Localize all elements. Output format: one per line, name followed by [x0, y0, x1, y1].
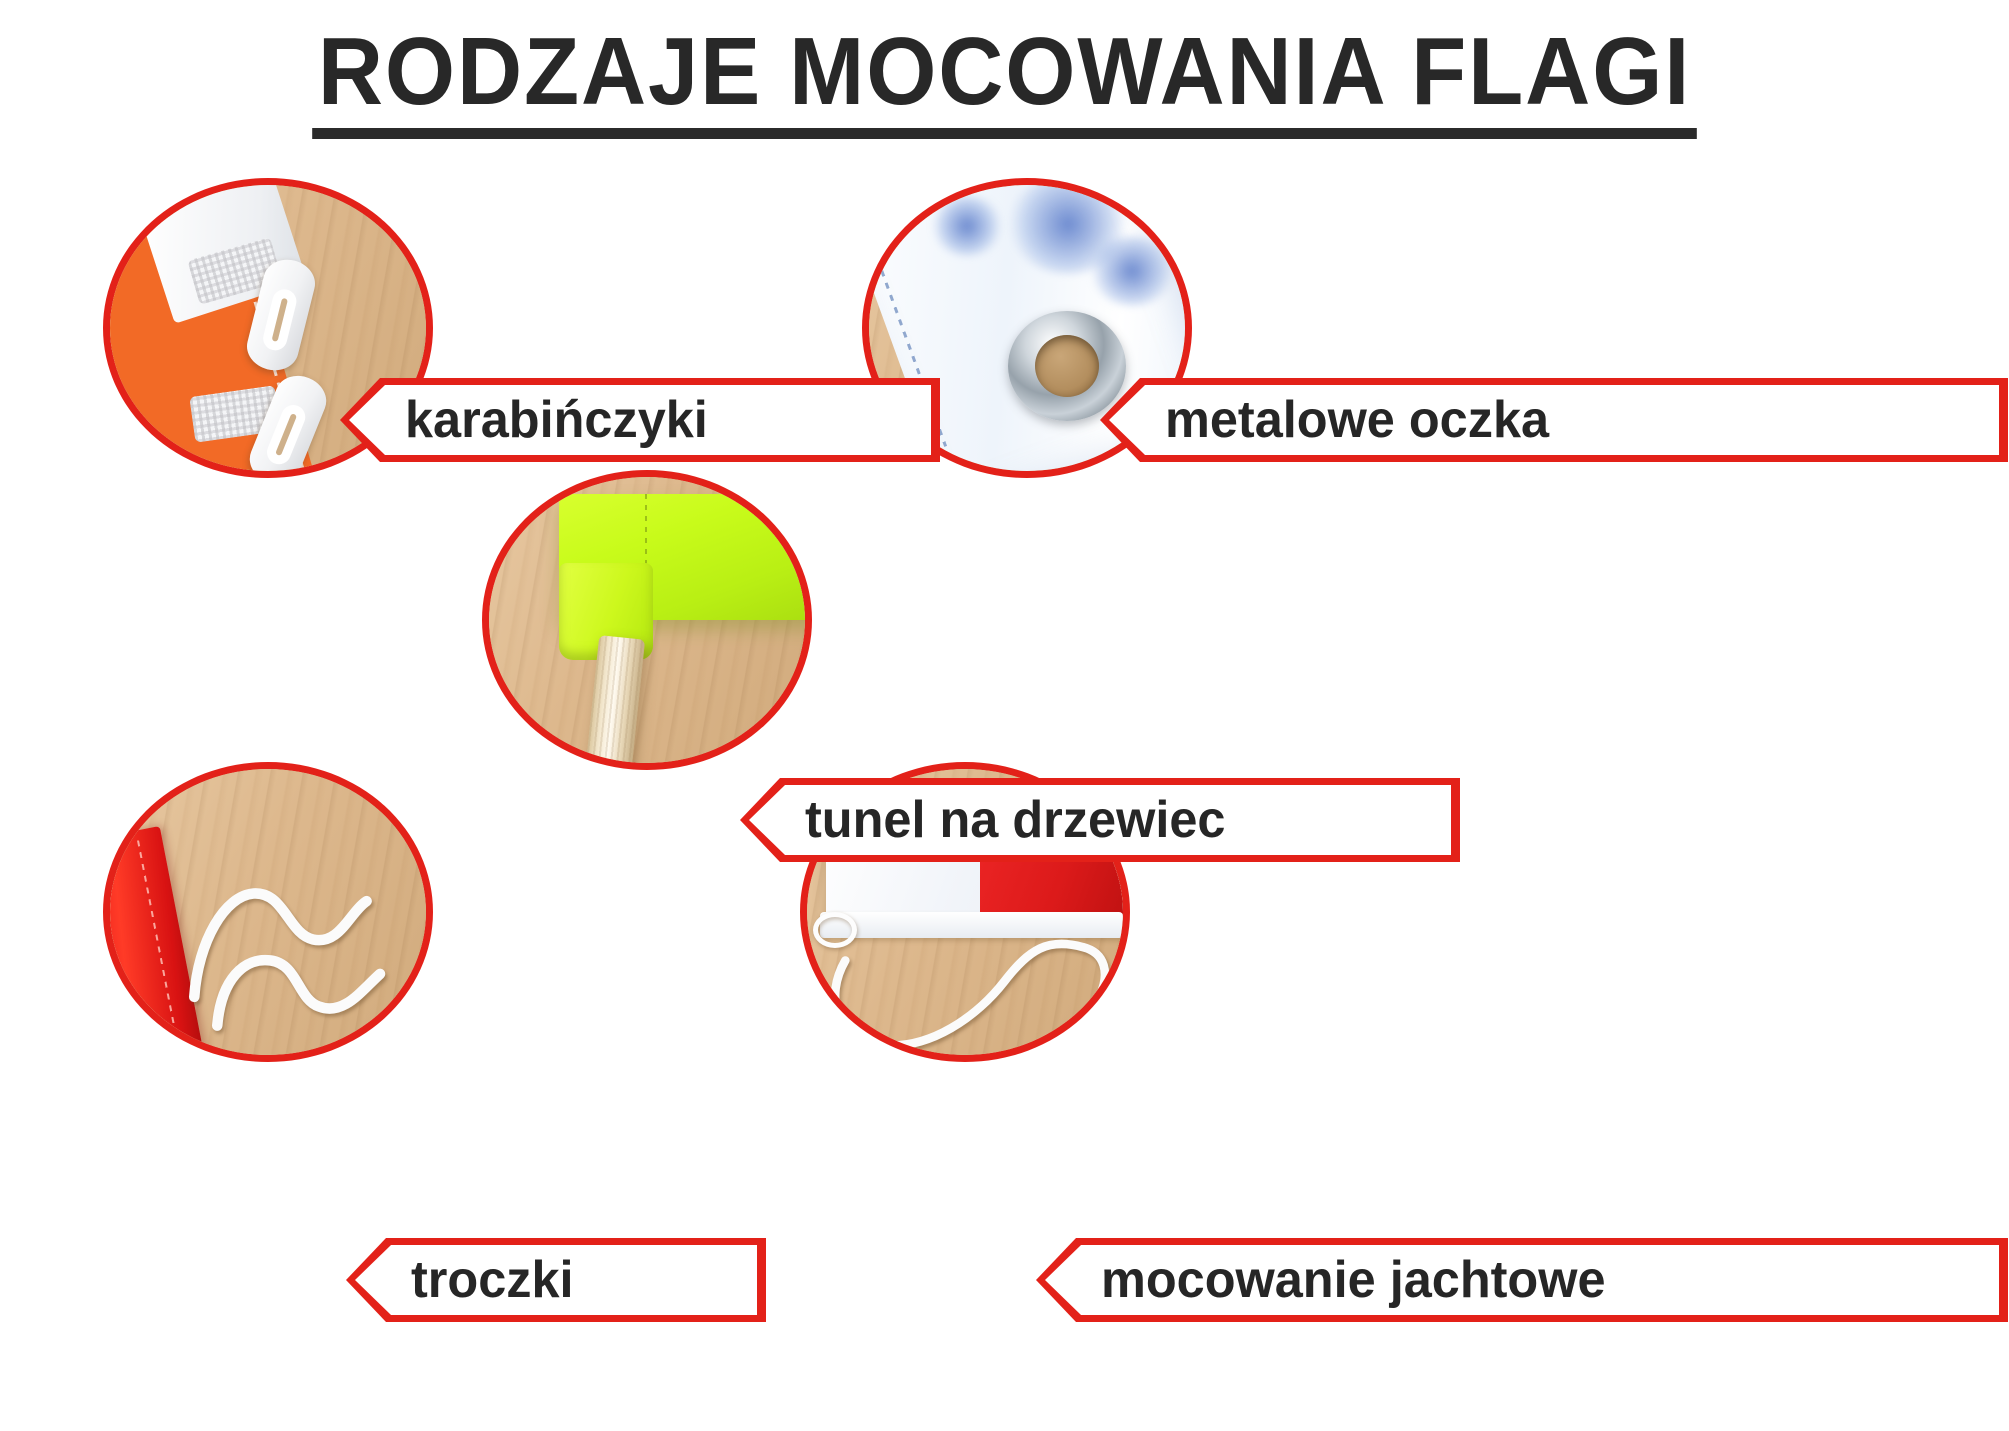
- callout-karabinczyki-body: karabińczyki: [349, 385, 931, 455]
- page-title: RODZAJE MOCOWANIA FLAGI: [0, 22, 2009, 139]
- infographic-poster: RODZAJE MOCOWANIA FLAGI karabińczyki: [0, 0, 2009, 1431]
- callout-metalowe-oczka-label: metalowe oczka: [1165, 394, 1549, 446]
- photo-tunel-na-drzewiec: [482, 470, 812, 770]
- callout-tunel-na-drzewiec-label: tunel na drzewiec: [805, 794, 1225, 846]
- callout-mocowanie-jachtowe-label: mocowanie jachtowe: [1101, 1254, 1606, 1306]
- callout-mocowanie-jachtowe-body: mocowanie jachtowe: [1045, 1245, 1999, 1315]
- halyard-rope-path: [835, 944, 1105, 1046]
- photo-troczki: [103, 762, 433, 1062]
- callout-troczki: troczki: [346, 1238, 766, 1322]
- callout-karabinczyki-label: karabińczyki: [405, 394, 708, 446]
- tie-cord-path-1: [194, 893, 366, 996]
- photo-troczki-image: [110, 769, 426, 1055]
- callout-karabinczyki: karabińczyki: [340, 378, 940, 462]
- callout-troczki-body: troczki: [355, 1245, 757, 1315]
- callout-tunel-na-drzewiec-body: tunel na drzewiec: [749, 785, 1451, 855]
- callout-mocowanie-jachtowe: mocowanie jachtowe: [1036, 1238, 2008, 1322]
- callout-tunel-na-drzewiec: tunel na drzewiec: [740, 778, 1460, 862]
- tie-cord-path-2: [217, 960, 380, 1026]
- photo-tunel-na-drzewiec-image: [489, 477, 805, 763]
- callout-troczki-label: troczki: [411, 1254, 574, 1306]
- callout-metalowe-oczka-body: metalowe oczka: [1109, 385, 1999, 455]
- tie-cord: [110, 769, 426, 1055]
- callout-metalowe-oczka: metalowe oczka: [1100, 378, 2008, 462]
- page-title-text: RODZAJE MOCOWANIA FLAGI: [312, 22, 1697, 139]
